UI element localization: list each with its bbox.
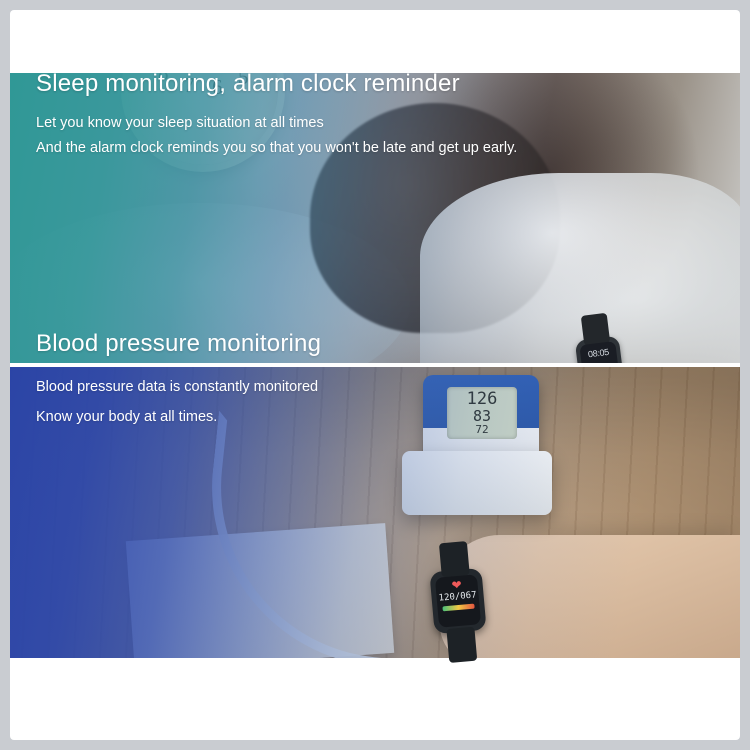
watch-bp-strap-top [439,541,470,577]
watch-bp-gauge [442,604,474,612]
blood-pressure-heading: Blood pressure monitoring [36,330,321,358]
blood-pressure-copy-block: Blood pressure monitoring Blood pressure… [36,330,321,438]
blood-pressure-line-2: Know your body at all times. [36,408,321,426]
smartwatch-blood-pressure: ❤ 120/067 [429,568,486,634]
sleep-heading: Sleep monitoring, alarm clock reminder [36,70,517,98]
blood-pressure-line-1: Blood pressure data is constantly monito… [36,378,321,396]
watch-screen-sleep: 08:05 [579,341,620,363]
watch-time: 08:05 [580,346,617,360]
sleep-copy-block: Sleep monitoring, alarm clock reminder L… [36,70,517,164]
watch-strap-top [581,313,610,346]
watch-screen-blood-pressure: ❤ 120/067 [435,574,481,627]
sleep-line-1: Let you know your sleep situation at all… [36,114,517,132]
product-detail-page: 8 7 6 5 08:05 [0,0,750,750]
watch-bp-strap-bottom [446,627,477,663]
watch-blood-pressure-reading: 120/067 [436,590,479,604]
sleep-line-2: And the alarm clock reminds you so that … [36,139,517,157]
